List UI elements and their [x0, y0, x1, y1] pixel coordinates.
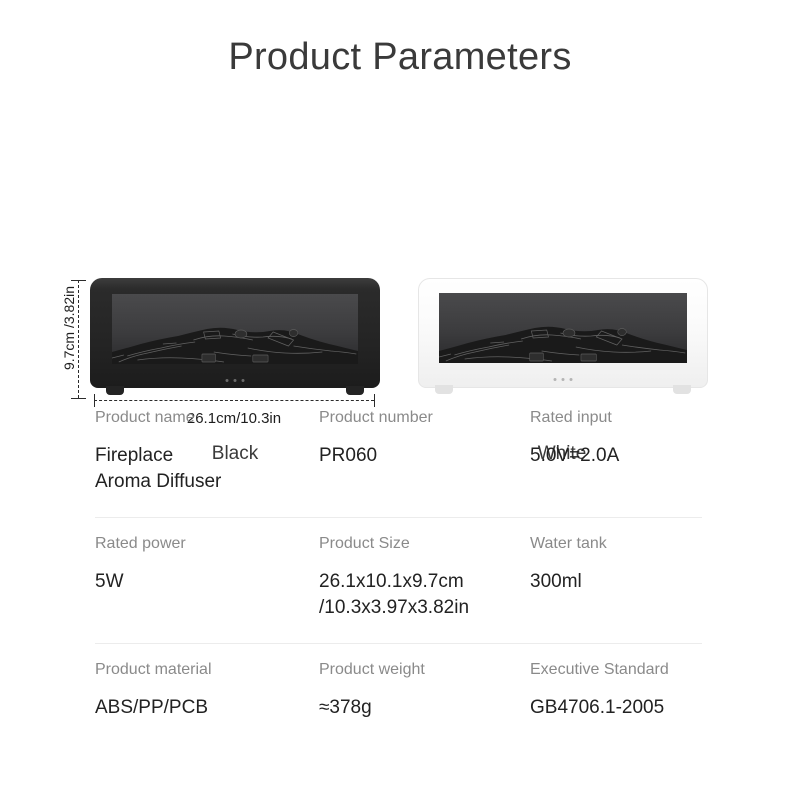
spec-cell-product-name: Product name Fireplace Aroma Diffuser	[95, 408, 310, 495]
spec-cell-product-weight: Product weight ≈378g	[319, 660, 519, 721]
spec-cell-rated-power: Rated power 5W	[95, 534, 310, 595]
spec-value: ABS/PP/PCB	[95, 695, 310, 721]
product-image-white	[418, 278, 708, 388]
spec-label: Product Size	[319, 534, 519, 554]
spec-value: 5.0V=2.0A	[530, 443, 720, 469]
spec-value: Fireplace Aroma Diffuser	[95, 443, 310, 495]
spec-value: 300ml	[530, 569, 720, 595]
height-dimension-line	[78, 280, 79, 398]
spec-label: Rated input	[530, 408, 720, 428]
table-row: Rated power 5W Product Size 26.1x10.1x9.…	[0, 518, 800, 644]
fireplace-screen-white	[439, 293, 687, 363]
spec-label: Product weight	[319, 660, 519, 680]
spec-table: Product name Fireplace Aroma Diffuser Pr…	[0, 392, 800, 754]
spec-label: Rated power	[95, 534, 310, 554]
table-row: Product material ABS/PP/PCB Product weig…	[0, 644, 800, 754]
product-image-black	[90, 278, 380, 388]
spec-cell-executive-standard: Executive Standard GB4706.1-2005	[530, 660, 720, 721]
page-title: Product Parameters	[0, 36, 800, 79]
spec-label: Executive Standard	[530, 660, 720, 680]
log-pile-icon	[112, 322, 358, 364]
spec-cell-product-size: Product Size 26.1x10.1x9.7cm /10.3x3.97x…	[319, 534, 519, 621]
spec-cell-rated-input: Rated input 5.0V=2.0A	[530, 408, 720, 469]
height-dimension-label: 9.7cm /3.82in	[61, 269, 77, 387]
spec-label: Water tank	[530, 534, 720, 554]
spec-label: Product name	[95, 408, 310, 428]
spec-value: ≈378g	[319, 695, 519, 721]
spec-value: 5W	[95, 569, 310, 595]
spec-value: PR060	[319, 443, 519, 469]
spec-value: GB4706.1-2005	[530, 695, 720, 721]
spec-cell-product-material: Product material ABS/PP/PCB	[95, 660, 310, 721]
spec-cell-product-number: Product number PR060	[319, 408, 519, 469]
fireplace-screen-black	[112, 294, 358, 364]
control-panel-black[interactable]	[226, 379, 245, 382]
log-pile-icon	[439, 321, 687, 363]
height-dimension-annotation: 9.7cm /3.82in	[56, 280, 82, 398]
spec-value: 26.1x10.1x9.7cm /10.3x3.97x3.82in	[319, 569, 519, 621]
product-gallery: 9.7cm /3.82in 26.1cm/10.3in	[0, 130, 800, 345]
control-panel-white[interactable]	[554, 378, 573, 381]
spec-cell-water-tank: Water tank 300ml	[530, 534, 720, 595]
spec-label: Product number	[319, 408, 519, 428]
spec-label: Product material	[95, 660, 310, 680]
table-row: Product name Fireplace Aroma Diffuser Pr…	[0, 392, 800, 518]
